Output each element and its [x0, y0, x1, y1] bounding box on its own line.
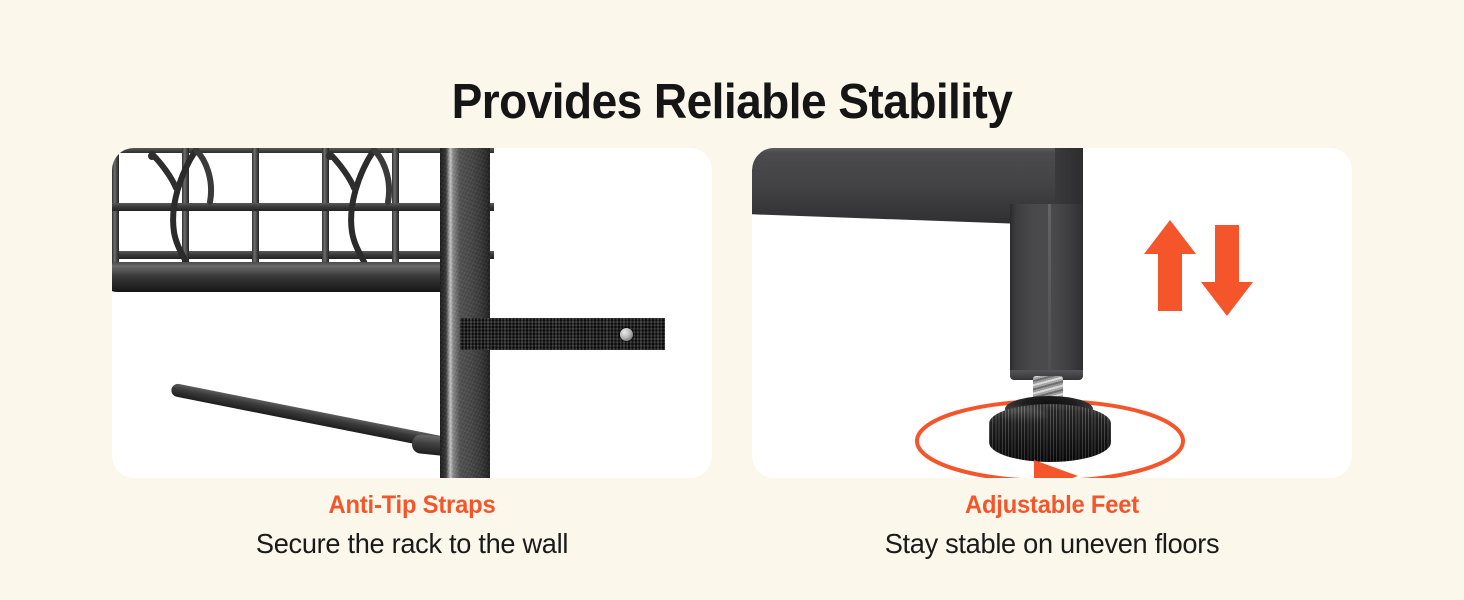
strap-grommet-icon — [620, 328, 633, 341]
caption-anti-tip-straps: Anti-Tip Straps Secure the rack to the w… — [112, 490, 712, 562]
adjustable-foot-photo — [752, 148, 1352, 478]
page-title: Provides Reliable Stability — [44, 78, 1420, 127]
up-arrow-icon — [1144, 220, 1196, 311]
height-adjust-arrows — [752, 148, 1352, 478]
anti-tip-strap — [460, 318, 665, 350]
caption-title: Anti-Tip Straps — [127, 490, 697, 521]
vertical-rack-post — [440, 148, 490, 478]
anti-tip-strap-photo — [112, 148, 712, 478]
post-texture — [440, 148, 490, 478]
caption-subtitle: Secure the rack to the wall — [121, 526, 703, 562]
feature-banner: Provides Reliable Stability — [0, 0, 1464, 600]
horizontal-rack-bar — [112, 262, 462, 292]
feature-card-adjustable-feet — [752, 148, 1352, 478]
caption-subtitle: Stay stable on uneven floors — [761, 526, 1343, 562]
feature-card-anti-tip-straps — [112, 148, 712, 478]
caption-title: Adjustable Feet — [767, 490, 1337, 521]
caption-adjustable-feet: Adjustable Feet Stay stable on uneven fl… — [752, 490, 1352, 562]
down-arrow-icon — [1201, 225, 1253, 316]
